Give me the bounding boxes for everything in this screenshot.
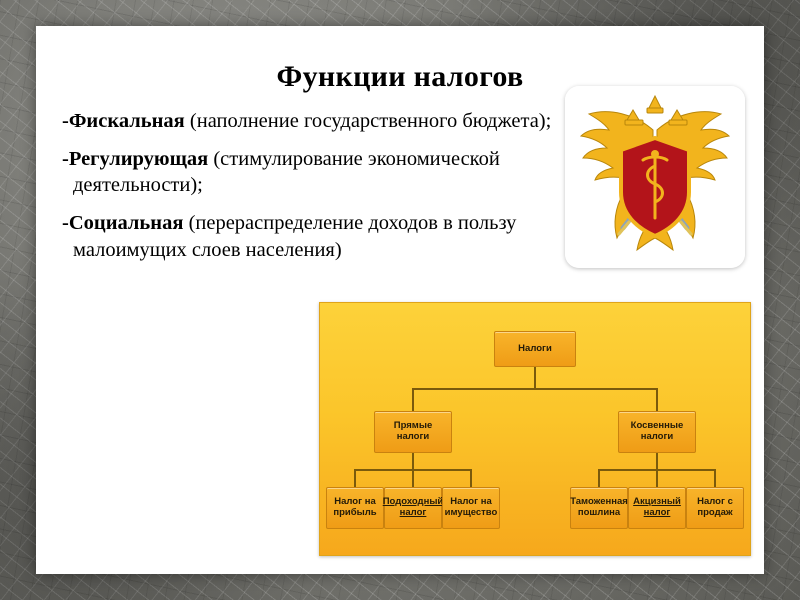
bullet-list: -Фискальная (наполнение государственного… bbox=[62, 108, 562, 274]
bullet-dash: - bbox=[62, 148, 69, 170]
connector bbox=[412, 388, 658, 390]
connector bbox=[354, 469, 356, 487]
diagram-node-leaf-0-1: Подоходныйналог bbox=[384, 487, 442, 529]
bullet-lead: Регулирующая bbox=[69, 148, 208, 170]
connector bbox=[412, 469, 414, 487]
bullet-lead: Фискальная bbox=[69, 110, 185, 132]
diagram-node-branch-0: Прямыеналоги bbox=[374, 411, 452, 453]
connector bbox=[656, 388, 658, 412]
diagram-node-leaf-0-0: Налог наприбыль bbox=[326, 487, 384, 529]
list-item: -Фискальная (наполнение государственного… bbox=[62, 108, 562, 135]
bullet-dash: - bbox=[62, 212, 69, 234]
connector bbox=[412, 453, 414, 469]
list-item: -Регулирующая (стимулирование экономичес… bbox=[62, 146, 562, 199]
list-item: -Социальная (перераспределение доходов в… bbox=[62, 210, 562, 263]
bullet-rest: (наполнение государственного бюджета); bbox=[185, 110, 552, 132]
connector bbox=[656, 453, 658, 469]
diagram-node-leaf-1-0: Таможеннаяпошлина bbox=[570, 487, 628, 529]
connector bbox=[470, 469, 472, 487]
diagram-node-leaf-0-2: Налог наимущество bbox=[442, 487, 500, 529]
slide-card: Функции налогов -Фискальная (наполнение … bbox=[36, 26, 764, 574]
connector bbox=[714, 469, 716, 487]
diagram-node-branch-1: Косвенныеналоги bbox=[618, 411, 696, 453]
federal-tax-service-emblem-icon bbox=[565, 86, 745, 268]
connector bbox=[656, 469, 658, 487]
diagram-node-leaf-1-2: Налог спродаж bbox=[686, 487, 744, 529]
bullet-lead: Социальная bbox=[69, 212, 184, 234]
connector bbox=[534, 366, 536, 388]
slide-background: Функции налогов -Фискальная (наполнение … bbox=[0, 0, 800, 600]
bullet-dash: - bbox=[62, 110, 69, 132]
connector bbox=[598, 469, 600, 487]
diagram-node-root: Налоги bbox=[494, 331, 576, 367]
connector bbox=[412, 388, 414, 412]
tax-classification-diagram: Налоги Прямыеналоги Косвенныеналоги Нало… bbox=[319, 302, 751, 556]
diagram-node-leaf-1-1: Акцизныйналог bbox=[628, 487, 686, 529]
